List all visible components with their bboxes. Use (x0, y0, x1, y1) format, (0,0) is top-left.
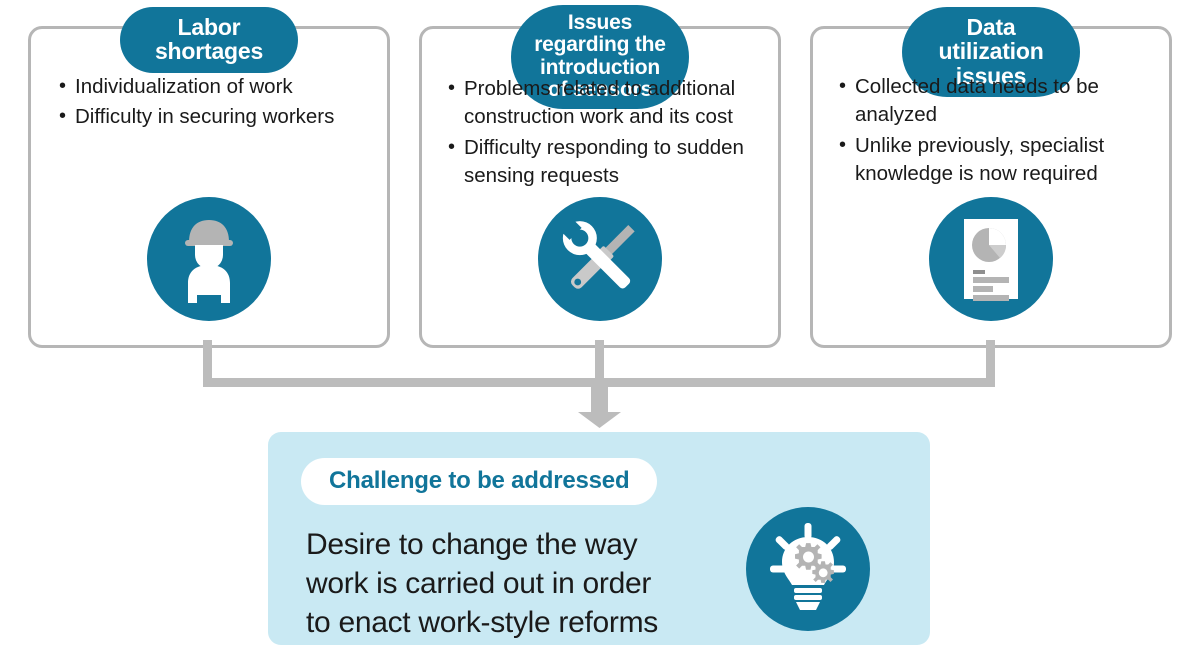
wrench-screwdriver-icon (538, 197, 662, 321)
list-item: Collected data needs to be analyzed (837, 73, 1153, 130)
diagram-canvas: Labor shortages Individualization of wor… (0, 0, 1200, 660)
issue-bullet-list: Individualization of work Difficulty in … (57, 73, 371, 134)
challenge-statement-text: Desire to change the way work is carried… (306, 525, 746, 642)
issue-bullet-list: Collected data needs to be analyzed Unli… (837, 73, 1153, 190)
report-pie-chart-icon (929, 197, 1053, 321)
merge-down-arrow-connector (0, 340, 1200, 432)
issue-card-title-pill: Labor shortages (120, 7, 298, 73)
issue-card-sensor-introduction: Issues regarding the introduction of sen… (419, 26, 781, 348)
list-item: Problems related to additional construct… (446, 75, 762, 132)
lightbulb-gears-icon (746, 507, 870, 631)
issue-bullet-list: Problems related to additional construct… (446, 75, 762, 192)
list-item: Difficulty in securing workers (57, 103, 371, 131)
issue-card-labor-shortages: Labor shortages Individualization of wor… (28, 26, 390, 348)
list-item: Unlike previously, specialist knowledge … (837, 132, 1153, 189)
list-item: Individualization of work (57, 73, 371, 101)
challenge-panel: Challenge to be addressed Desire to chan… (268, 432, 930, 645)
list-item: Difficulty responding to sudden sensing … (446, 134, 762, 191)
issue-card-data-utilization: Data utilization issues Collected data n… (810, 26, 1172, 348)
challenge-pill-label: Challenge to be addressed (301, 458, 657, 505)
construction-worker-icon (147, 197, 271, 321)
